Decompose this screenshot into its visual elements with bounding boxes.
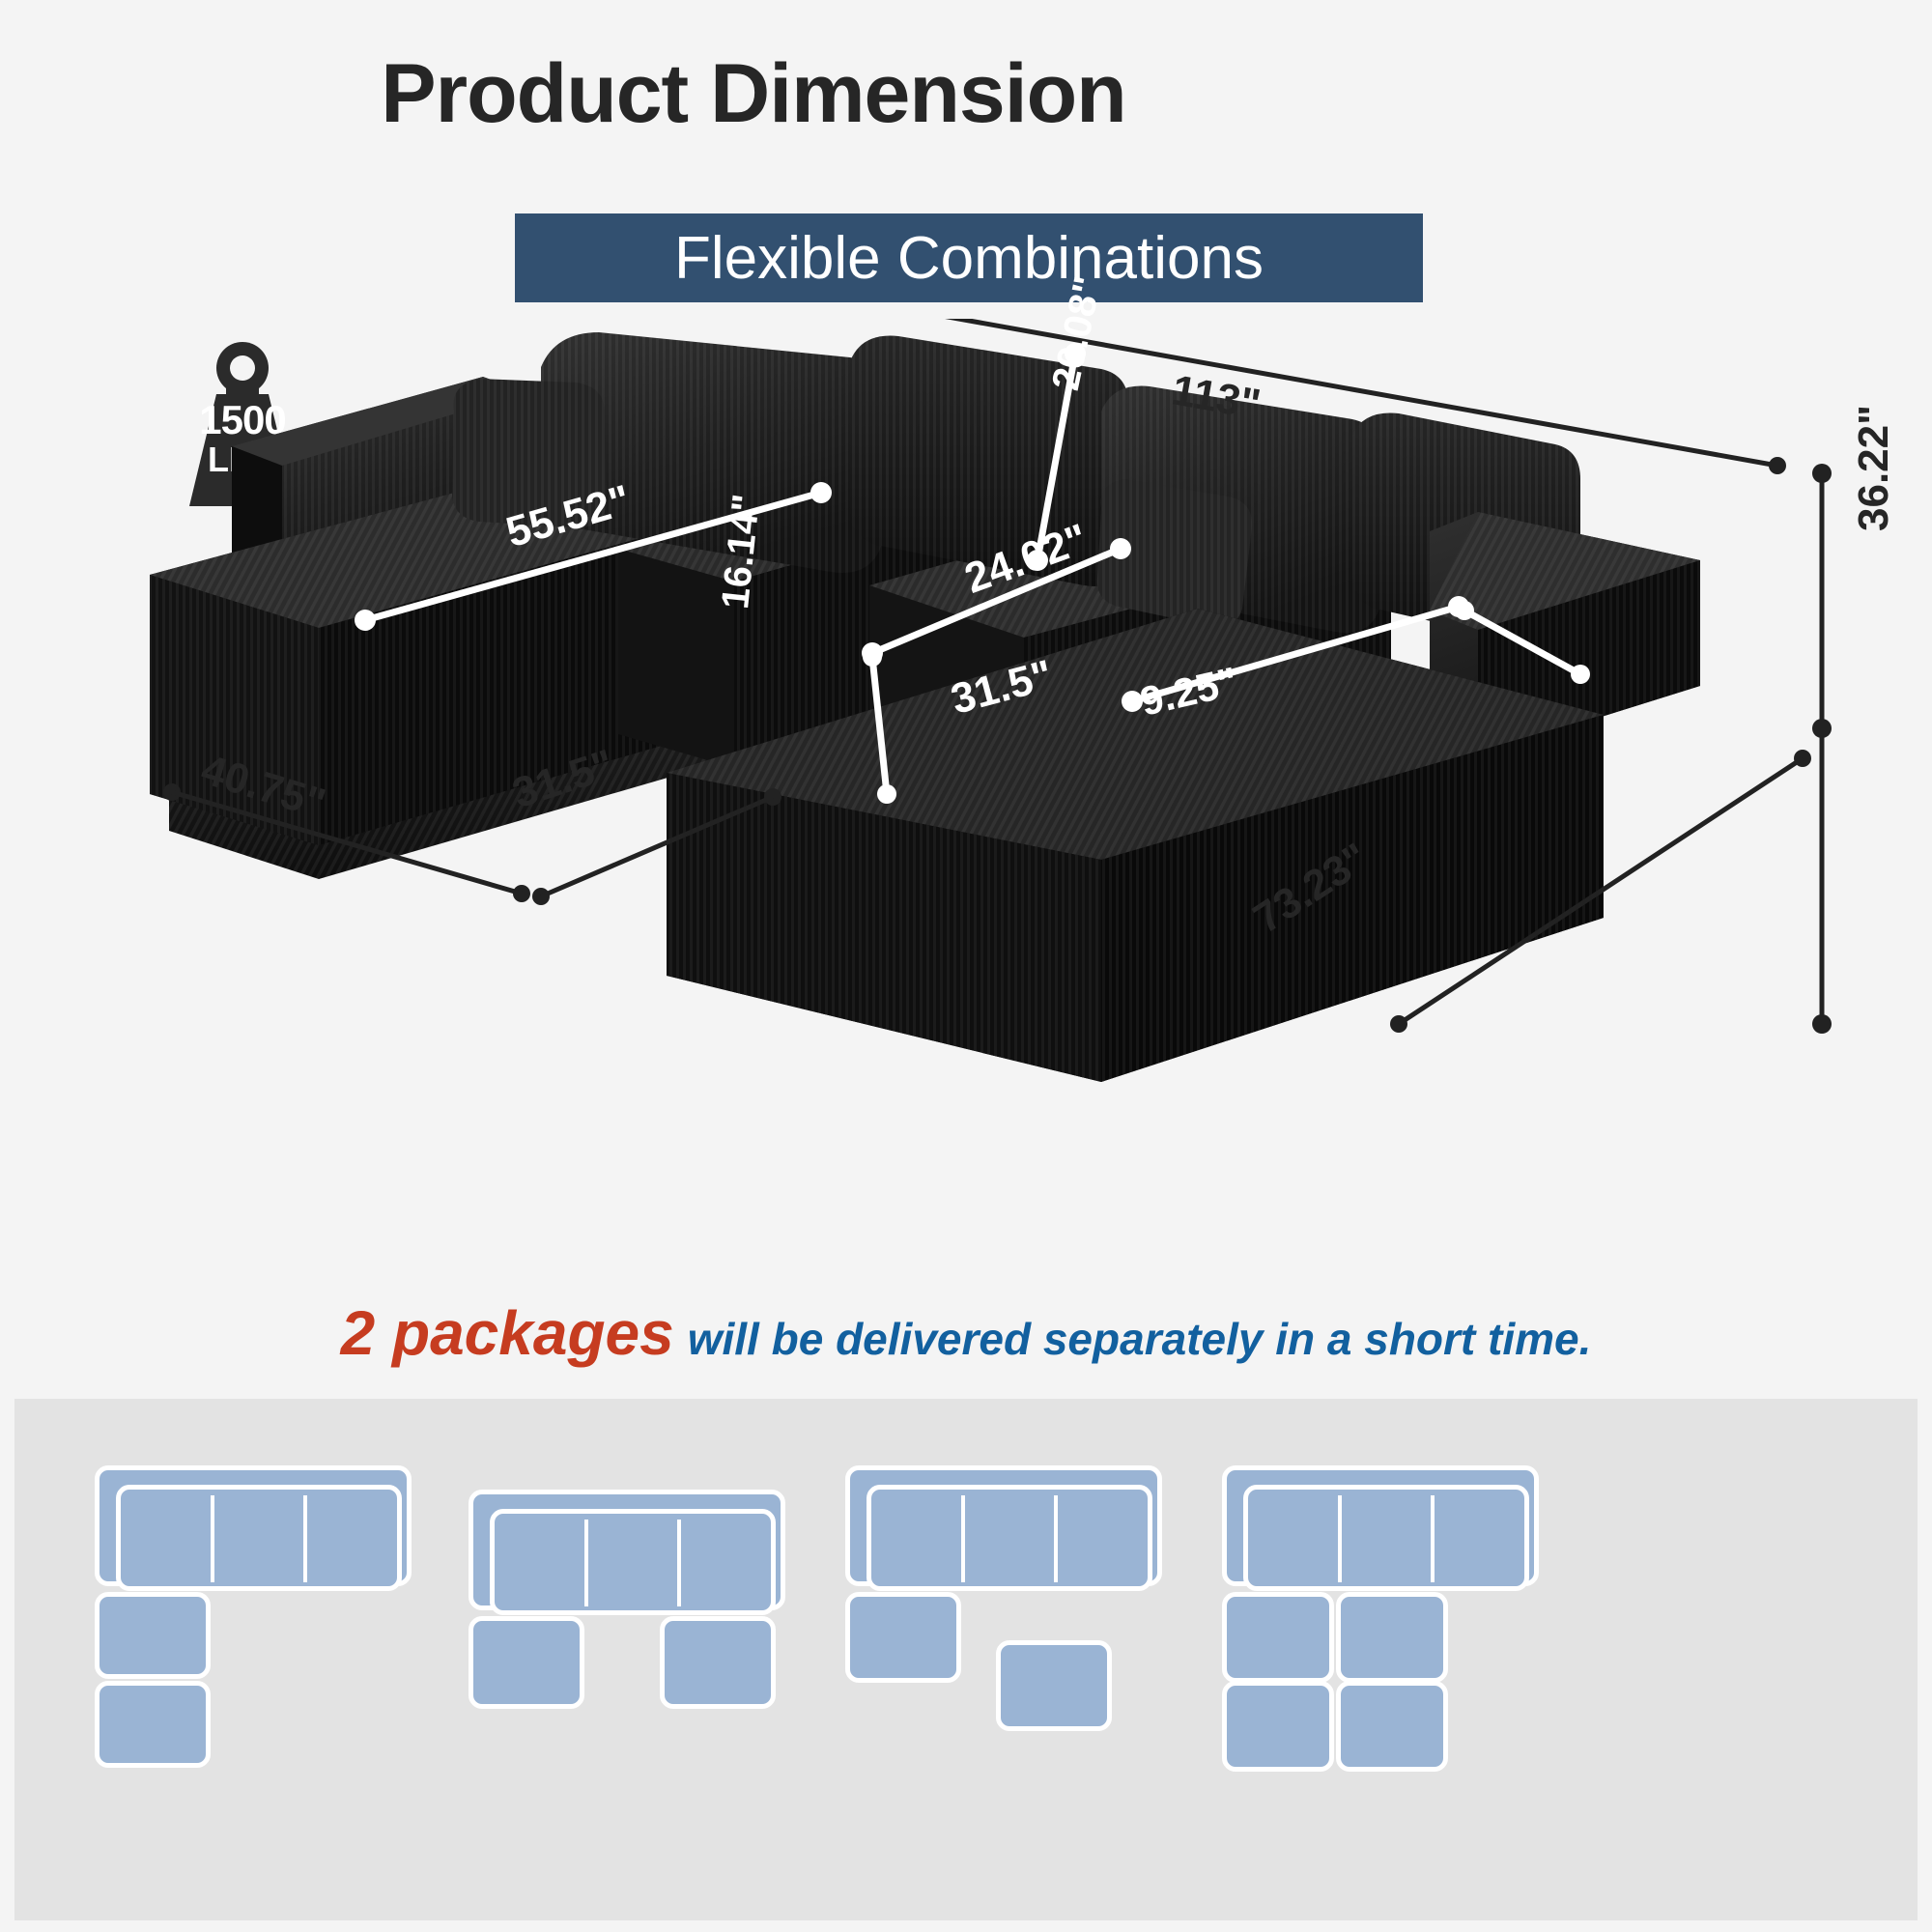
combo3-seam-2 xyxy=(1054,1495,1058,1582)
dim-label-overall-height: 36.22" xyxy=(1853,405,1895,531)
combo3-ottoman xyxy=(996,1640,1112,1731)
product-dimension-infographic: Product Dimension Flexible Combinations … xyxy=(0,0,1932,1932)
flexible-combinations-banner: Flexible Combinations xyxy=(515,213,1423,302)
combo1-seam-1 xyxy=(211,1495,214,1582)
combo2-seam-2 xyxy=(677,1520,681,1606)
banner-label: Flexible Combinations xyxy=(674,224,1264,293)
combo3-seam-1 xyxy=(961,1495,965,1582)
combo4-ottoman-d xyxy=(1336,1681,1448,1772)
combo1-module-b xyxy=(95,1681,211,1768)
combo4-ottoman-b xyxy=(1336,1592,1448,1683)
combo4-ottoman-c xyxy=(1222,1681,1334,1772)
combo2-ottoman-right xyxy=(660,1616,776,1709)
page-title: Product Dimension xyxy=(0,46,1507,142)
layout-u-shape[interactable] xyxy=(469,1461,894,1866)
combo4-seat-row xyxy=(1243,1485,1529,1591)
combination-options-panel xyxy=(14,1399,1918,1920)
layout-l-plus-ottoman[interactable] xyxy=(845,1461,1270,1866)
combo3-seat-row xyxy=(867,1485,1152,1591)
combo4-ottoman-a xyxy=(1222,1592,1334,1683)
layout-l-left[interactable] xyxy=(85,1461,510,1866)
combo2-ottoman-left xyxy=(469,1616,584,1709)
combo1-seam-2 xyxy=(303,1495,307,1582)
delivery-note: 2 packageswill be delivered separately i… xyxy=(0,1302,1932,1364)
combo1-module-a xyxy=(95,1592,211,1679)
layout-sofa-ottomans[interactable] xyxy=(1222,1461,1647,1866)
sofa-illustration xyxy=(0,319,1932,1343)
delivery-note-text: will be delivered separately in a short … xyxy=(688,1314,1592,1364)
delivery-package-count: 2 packages xyxy=(341,1298,674,1368)
combo1-seat-row xyxy=(116,1485,402,1591)
combo4-seam-2 xyxy=(1431,1495,1435,1582)
combo2-seam-1 xyxy=(584,1520,588,1606)
combo4-seam-1 xyxy=(1338,1495,1342,1582)
combo3-module-a xyxy=(845,1592,961,1683)
combo2-seat-row xyxy=(490,1509,776,1615)
